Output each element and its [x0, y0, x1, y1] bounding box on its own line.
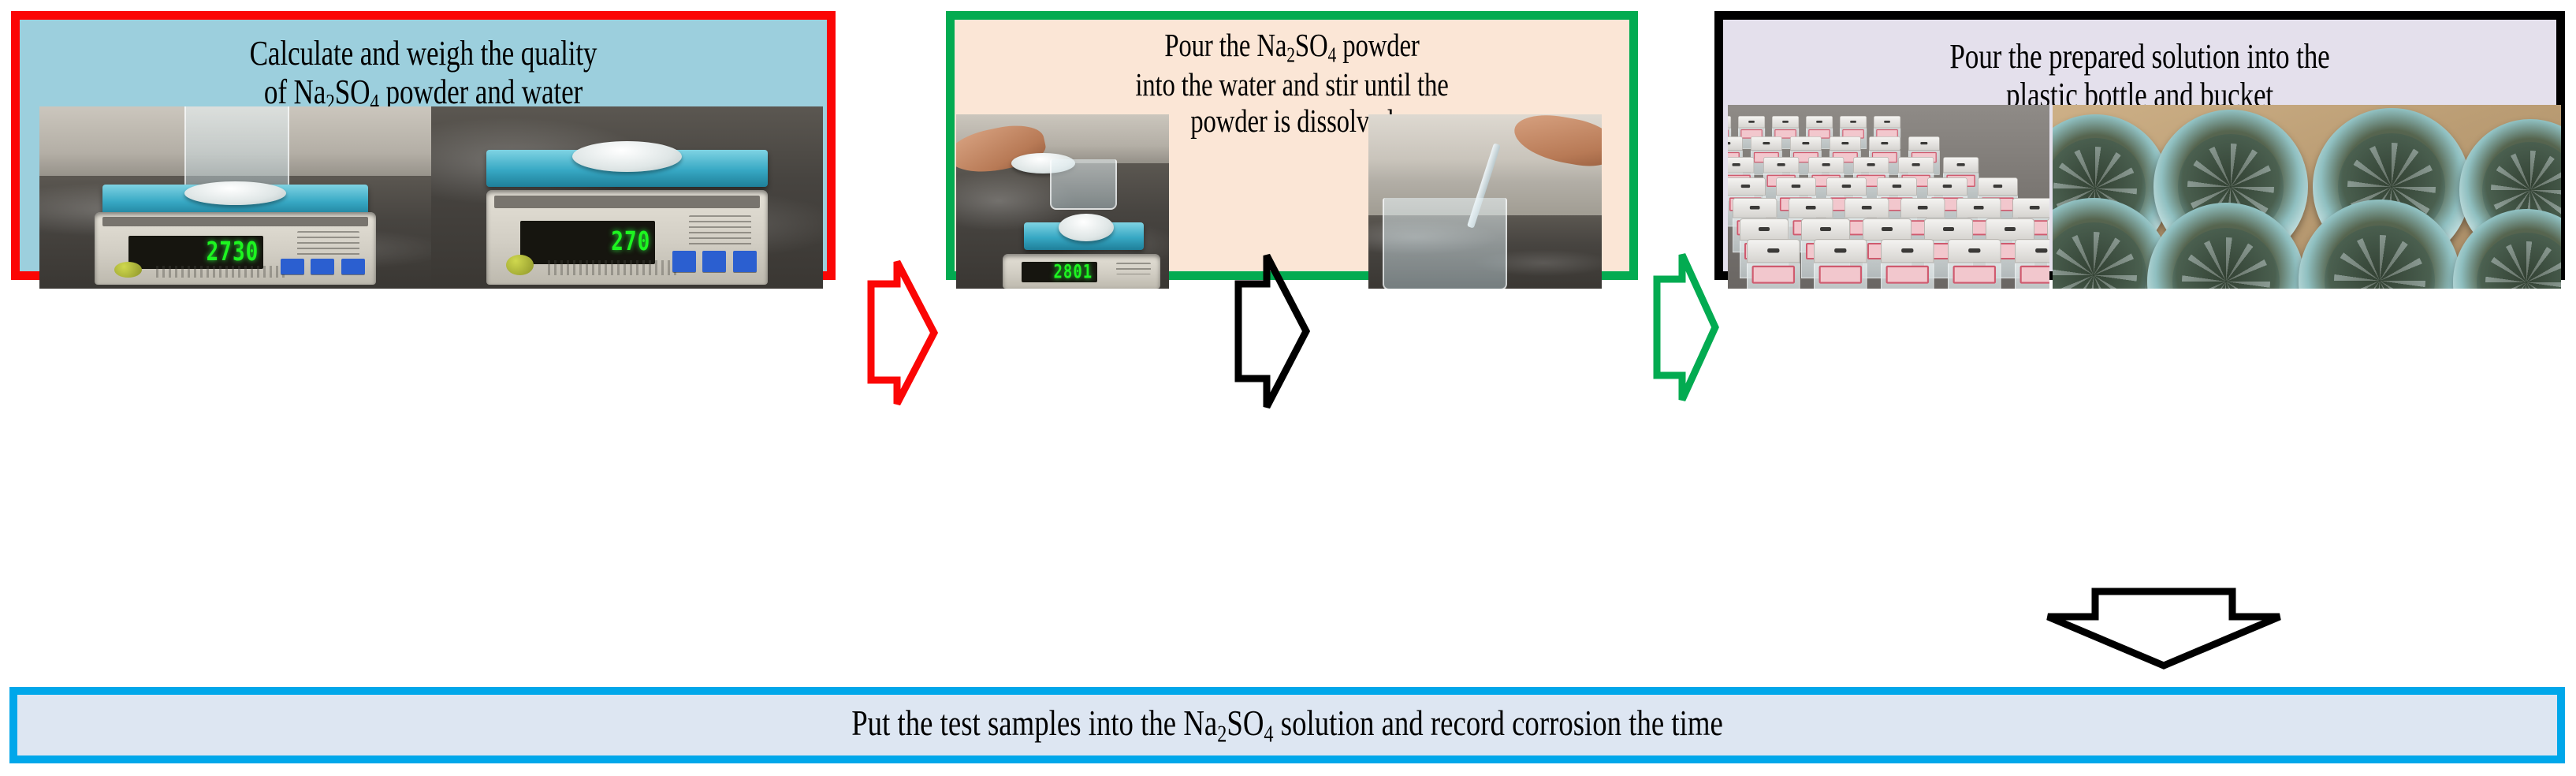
bottle-cap — [1924, 218, 1973, 241]
scale-brand-mark — [689, 215, 751, 248]
scale-top-strip — [494, 196, 759, 208]
bottle-cap — [1789, 198, 1833, 218]
solution-surface — [2053, 222, 2146, 289]
step-2-caption-line1-post: powder — [1336, 27, 1419, 63]
solution-surface — [2325, 226, 2435, 289]
arrow-step3-to-result-icon — [2042, 585, 2286, 672]
bottle-cap — [1830, 136, 1861, 151]
arrow-step2-to-step3-icon — [1633, 252, 1720, 402]
bottle-cap — [1943, 157, 1979, 173]
solution-surface — [2172, 228, 2280, 289]
bottle-cap — [2047, 218, 2049, 241]
bottle-cap — [1863, 218, 1912, 241]
power-led-icon — [506, 255, 534, 275]
bottle-cap — [1728, 116, 1731, 128]
bottle-body — [1881, 263, 1934, 289]
scale-model-text — [548, 260, 678, 275]
scale-reading-value: 2801 — [1053, 261, 1097, 283]
bottle-label — [1953, 266, 1997, 284]
scale-top-strip — [102, 217, 367, 226]
sub-2: 2 — [1217, 721, 1227, 748]
bottle-cap — [1853, 157, 1889, 173]
glass-dish — [184, 181, 286, 205]
bottle-cap — [1728, 177, 1766, 196]
step-2-caption-line1-pre: Pour the Na — [1164, 27, 1286, 63]
bottle-body — [1814, 263, 1867, 289]
scale-brand-mark — [1116, 263, 1151, 274]
bottle-cap — [2012, 198, 2049, 218]
beaker-icon — [184, 106, 289, 192]
step-1-caption: Calculate and weigh the quality of Na2SO… — [100, 20, 746, 116]
sample-bottle — [1948, 239, 2001, 289]
bottle-cap — [1806, 116, 1833, 128]
scale-buttons[interactable] — [281, 259, 365, 274]
scale-model-text — [156, 266, 286, 278]
bottle-cap — [1845, 198, 1889, 218]
bottle-cap — [1840, 116, 1867, 128]
photo-pouring-powder-into-beaker: 2801 — [956, 114, 1169, 289]
bottle-cap — [1728, 136, 1743, 151]
scale-display: 2730 — [128, 236, 264, 269]
step-1-caption-line2-pre: of Na — [264, 73, 326, 111]
scale-display: 2801 — [1022, 262, 1097, 283]
bottle-cap — [1814, 239, 1867, 263]
beaker-icon — [1383, 198, 1507, 289]
photo-beaker-of-water-on-scale: 2730 — [39, 106, 431, 289]
bottle-cap — [1956, 198, 2001, 218]
step-1-photo-strip: 2730 — [39, 106, 824, 289]
step-2-caption-line1-mid: SO — [1295, 27, 1328, 63]
photo-sample-bottles — [1728, 105, 2049, 289]
electronic-scale: 2730 — [95, 212, 377, 285]
photo-buckets-with-samples — [2053, 105, 2561, 289]
bottle-body — [1747, 263, 1800, 289]
bottle-cap — [2015, 239, 2049, 263]
bottle-cap — [1751, 136, 1782, 151]
bottle-label — [1886, 266, 1930, 284]
bottle-cap — [1801, 218, 1850, 241]
step-panel-1: Calculate and weigh the quality of Na2SO… — [11, 11, 836, 280]
scale-brand-mark — [297, 231, 359, 256]
bottle-label — [1752, 266, 1796, 284]
bottle-cap — [1978, 177, 2018, 196]
bottle-cap — [1763, 157, 1799, 173]
white-powder-heap — [1059, 214, 1114, 241]
white-powder-heap — [572, 141, 682, 172]
sample-bottle — [1814, 239, 1867, 289]
step-3-photo-strip — [1728, 105, 2561, 289]
bottle-cap — [1790, 136, 1822, 151]
bottle-label — [2020, 266, 2049, 284]
bottle-cap — [1733, 198, 1777, 218]
bottle-cap — [1869, 136, 1900, 151]
sample-bottle — [2015, 239, 2049, 289]
bottle-array-scene — [1728, 105, 2049, 289]
bucket-array-scene — [2053, 105, 2561, 289]
step-1-caption-line1: Calculate and weigh the quality — [250, 34, 597, 73]
bottle-cap — [1948, 239, 2001, 263]
electronic-scale: 270 — [486, 190, 769, 285]
bottle-cap — [1738, 116, 1765, 128]
bottle-cap — [1740, 218, 1789, 241]
step-3-caption: Pour the prepared solution into the plas… — [1807, 20, 2474, 115]
bottle-body — [2015, 263, 2049, 289]
electronic-scale: 2801 — [1003, 254, 1160, 289]
bottle-cap — [1900, 198, 1945, 218]
sub-4: 4 — [1264, 721, 1273, 748]
bottle-cap — [1808, 157, 1844, 173]
sample-bottle — [1747, 239, 1800, 289]
bottle-cap — [1728, 157, 1754, 173]
bottle-cap — [1986, 218, 2034, 241]
arrow-step1-to-step2-icon — [845, 260, 940, 406]
scale-reading-value: 2730 — [207, 237, 264, 267]
step-panel-2: Pour the Na2SO4 powder into the water an… — [946, 11, 1638, 280]
result-banner: Put the test samples into the Na2SO4 sol… — [9, 687, 2565, 763]
bottle-cap — [1772, 116, 1799, 128]
bottle-label — [1819, 266, 1863, 284]
bottle-cap — [1747, 239, 1800, 263]
photo-scene: 2801 — [956, 114, 1169, 289]
bottle-cap — [1826, 177, 1867, 196]
result-banner-caption: Put the test samples into the Na2SO4 sol… — [851, 702, 1723, 748]
scale-display: 270 — [520, 221, 656, 264]
solution-surface — [2477, 233, 2561, 289]
result-text-post: solution and record corrosion the time — [1274, 703, 1723, 743]
photo-scene — [1368, 114, 1602, 289]
scale-reading-value: 270 — [611, 228, 655, 258]
arrow-inside-step2-icon — [1210, 252, 1312, 410]
result-text-pre: Put the test samples into the Na — [851, 703, 1217, 743]
bottle-cap — [1877, 177, 1917, 196]
step-3-caption-line1: Pour the prepared solution into the — [1949, 37, 2329, 76]
bottle-cap — [1908, 136, 1940, 151]
scale-buttons[interactable] — [672, 251, 757, 271]
step-2-caption-line2: into the water and stir until the — [1135, 66, 1448, 103]
sub-2: 2 — [1286, 43, 1295, 67]
step-1-caption-line2-post: powder and water — [379, 73, 583, 111]
result-text-mid: SO — [1227, 703, 1264, 743]
bottle-cap — [1881, 239, 1934, 263]
photo-stirring-solution — [1368, 114, 1602, 289]
figure-stage: Calculate and weigh the quality of Na2SO… — [0, 0, 2576, 776]
photo-scene: 2730 — [39, 106, 431, 289]
bottle-cap — [1927, 177, 1967, 196]
step-1-caption-line2-mid: SO — [335, 73, 370, 111]
bottle-body — [1948, 263, 2001, 289]
sample-bottle — [1881, 239, 1934, 289]
photo-scene: 270 — [431, 106, 823, 289]
sub-4: 4 — [1328, 43, 1337, 67]
bottle-cap — [1898, 157, 1934, 173]
bottle-cap — [1874, 116, 1900, 128]
beaker-icon — [1050, 159, 1117, 210]
step-panel-3: Pour the prepared solution into the plas… — [1714, 11, 2565, 280]
power-led-icon — [114, 262, 143, 278]
photo-powder-on-scale: 270 — [431, 106, 823, 289]
bottle-cap — [1776, 177, 1816, 196]
